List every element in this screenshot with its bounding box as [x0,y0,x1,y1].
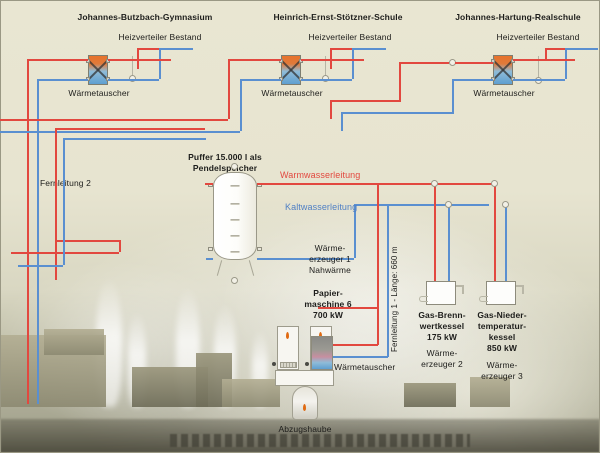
pipe-hot [455,62,493,64]
pipe-cold [63,138,206,140]
consumer-title-1: Johannes-Butzbach-Gymnasium [55,12,235,23]
hood-label: Abzugshaube [264,424,346,435]
pipe-hot [434,185,436,281]
pipe-cold [0,131,240,133]
burner-icon [479,296,488,302]
pipe-hot [228,59,281,61]
machine-base [275,370,334,386]
extraction-hood [292,386,318,420]
pipe-cold [387,204,389,357]
tank-port [257,247,262,251]
exchanger-label-1: Wärmetauscher [58,88,140,99]
pipe-cold [448,206,450,281]
valve-icon [502,201,509,208]
pipe-cold [37,79,39,404]
tank-port [208,247,213,251]
trunk-1-label: Fernleitung 1 - Länge: 660 m [389,246,400,352]
pipe-hot [377,307,379,345]
exchanger-label-2: Wärmetauscher [251,88,333,99]
pipe-hot [513,59,575,61]
buffer-tank-label: Puffer 15.000 l als Pendelspeicher [155,152,295,174]
heat-exchanger-symbol [89,56,107,84]
pipe-hot [330,100,332,119]
pipe-cold [108,79,159,81]
pipe-hot [0,119,228,121]
pipe-cold [240,79,281,81]
buffer-tank [213,172,257,260]
pipe-hot [27,59,88,61]
distributor-label-2: Heizverteiler Bestand [290,32,410,43]
heat-exchanger-1 [88,55,108,85]
pipe-hot [27,59,29,404]
pipe-cold [505,206,507,281]
distributor-label-3: Heizverteiler Bestand [478,32,598,43]
machine-roller [272,362,276,366]
tank-baffle [231,185,240,187]
pipe-hot [494,185,496,281]
building [222,379,280,407]
heat-exchanger-paper-machine [311,336,333,370]
pipe-hot [333,344,378,346]
pipe-cold [333,356,388,358]
pipe-hot [399,62,449,64]
tank-baffle [231,251,240,253]
hot-pipe-legend: Warmwasserleitung [280,170,390,181]
exchanger-label-3: Wärmetauscher [463,88,545,99]
pipe-cold [240,79,242,131]
pipe-cold [513,79,565,81]
building [404,383,456,407]
pipe-cold [206,258,213,260]
pipe-hot [399,62,401,100]
building [44,329,104,355]
pipe-cold [18,265,63,267]
generator-1-source: Wärme- erzeuger 1 Nahwärme [290,243,370,276]
pipe-hot [228,59,230,119]
valve-icon [445,201,452,208]
pipe-hot [330,100,401,102]
heat-exchanger-symbol [282,56,300,84]
heat-exchanger-symbol [494,56,512,84]
flame-icon [286,332,289,339]
flue-pipe-icon [462,285,464,294]
heat-exchanger-3 [493,55,513,85]
distributor-label-1: Heizverteiler Bestand [100,32,220,43]
flame-icon [303,404,306,411]
pipe-cold [352,48,354,79]
pipe-cold [301,79,352,81]
exchanger-label-4: Wärmetauscher [334,362,406,373]
generator-3-source: Wärme- erzeuger 3 [463,360,541,382]
parked-cars [170,434,470,447]
tank-vent-valve [231,163,238,170]
heat-exchanger-2 [281,55,301,85]
pipe-hot [205,183,213,185]
pipe-hot [108,59,171,61]
pipe-hot [55,128,57,280]
pipe-hot [11,252,119,254]
generator-1-machine: Papier- maschine 6 700 kW [288,288,368,321]
pipe-cold [159,48,193,50]
tank-baffle [231,235,240,237]
boiler-gas-condensing [426,281,456,305]
tank-baffle [231,203,240,205]
burner-icon [419,296,428,302]
pipe-hot [257,183,377,185]
valve-icon [431,180,438,187]
pipe-cold [452,79,454,112]
pipe-hot [377,183,379,307]
diagram-canvas: Johannes-Butzbach-Gymnasium Heizverteile… [0,0,600,453]
pipe-cold [352,48,386,50]
boiler-gas-low-temp [486,281,516,305]
pipe-cold [341,112,454,114]
generator-3-boiler: Gas-Nieder- temperatur- kessel 850 kW [463,310,541,354]
pipe-hot [55,128,205,130]
tank-baffle [231,219,240,221]
tank-drain-valve [231,277,238,284]
pipe-cold [565,48,567,79]
pipe-hot [301,59,364,61]
consumer-title-3: Johannes-Hartung-Realschule [438,12,598,23]
valve-icon [491,180,498,187]
pipe-cold [341,112,343,131]
pipe-hot [119,240,121,252]
pipe-cold [452,79,493,81]
pipe-hot [545,48,547,59]
machine-roller [305,362,309,366]
consumer-title-2: Heinrich-Ernst-Stötzner-Schule [248,12,428,23]
pipe-cold [565,48,598,50]
machine-grate [280,362,297,368]
pipe-cold [37,79,88,81]
pipe-cold [63,138,65,265]
pipe-cold [159,48,161,79]
flue-pipe-icon [522,285,524,294]
